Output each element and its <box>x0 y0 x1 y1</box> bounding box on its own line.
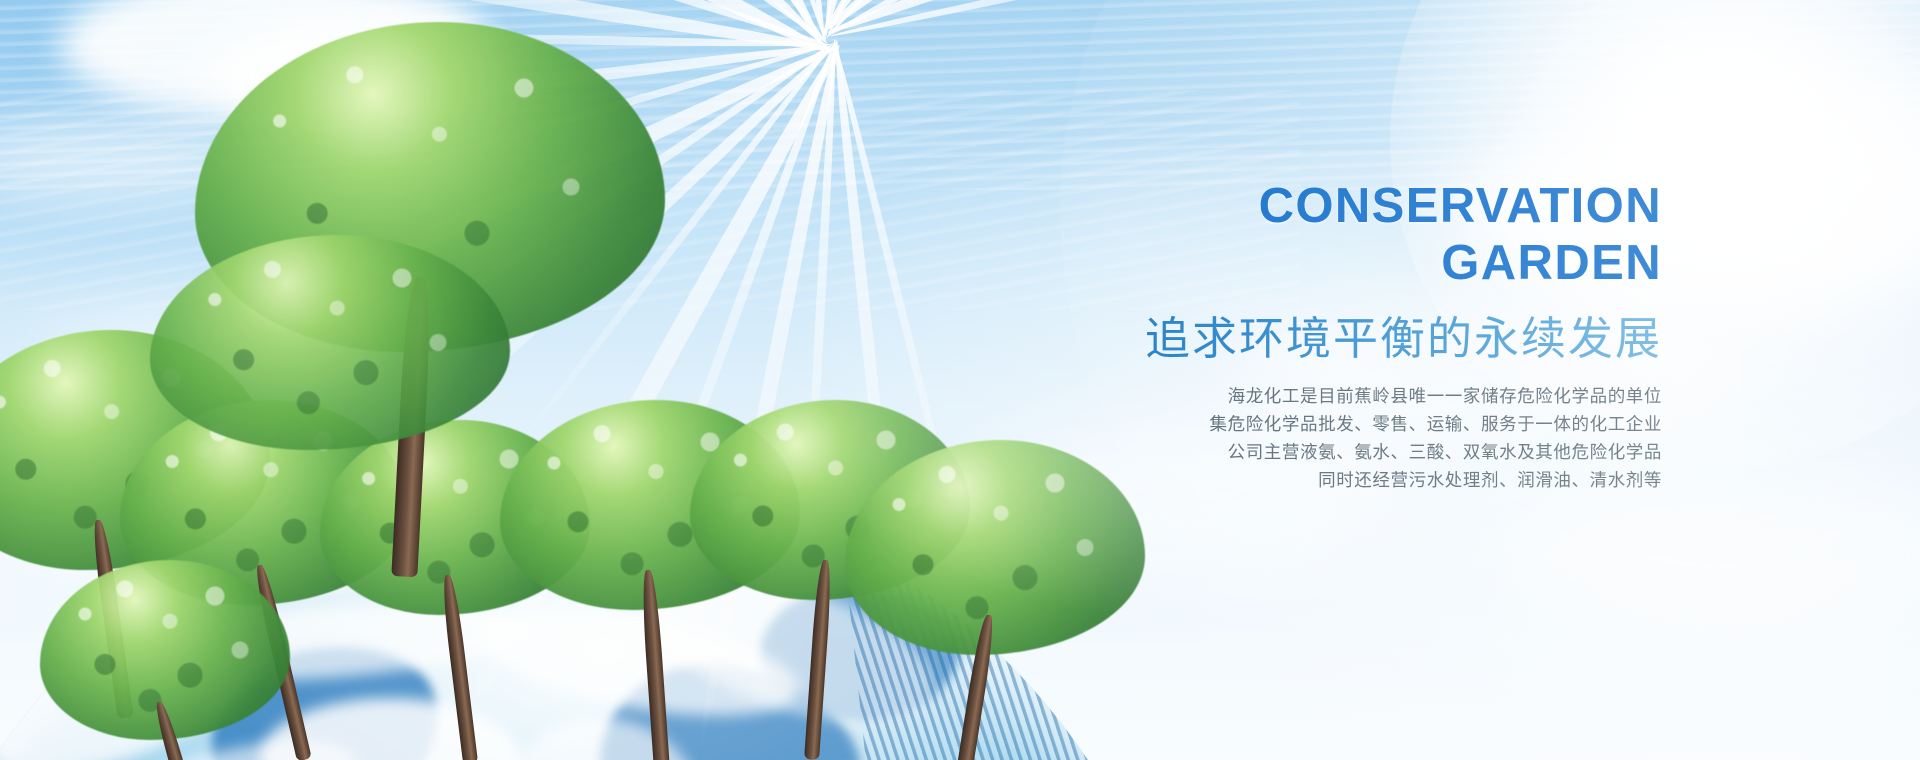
hero-banner: CONSERVATION GARDEN 追求环境平衡的永续发展 海龙化工是目前蕉… <box>0 0 1920 760</box>
body-line: 集危险化学品批发、零售、运输、服务于一体的化工企业 <box>882 410 1662 438</box>
headline-line-1: CONSERVATION <box>882 178 1662 235</box>
body-copy: 海龙化工是目前蕉岭县唯一一家储存危险化学品的单位 集危险化学品批发、零售、运输、… <box>882 382 1662 494</box>
body-line: 同时还经营污水处理剂、润滑油、清水剂等 <box>882 466 1662 494</box>
hero-copy: CONSERVATION GARDEN 追求环境平衡的永续发展 海龙化工是目前蕉… <box>882 178 1662 494</box>
body-line: 海龙化工是目前蕉岭县唯一一家储存危险化学品的单位 <box>882 382 1662 410</box>
headline-line-2: GARDEN <box>882 235 1662 292</box>
subheadline: 追求环境平衡的永续发展 <box>882 310 1662 368</box>
body-line: 公司主营液氨、氨水、三酸、双氧水及其他危险化学品 <box>882 438 1662 466</box>
